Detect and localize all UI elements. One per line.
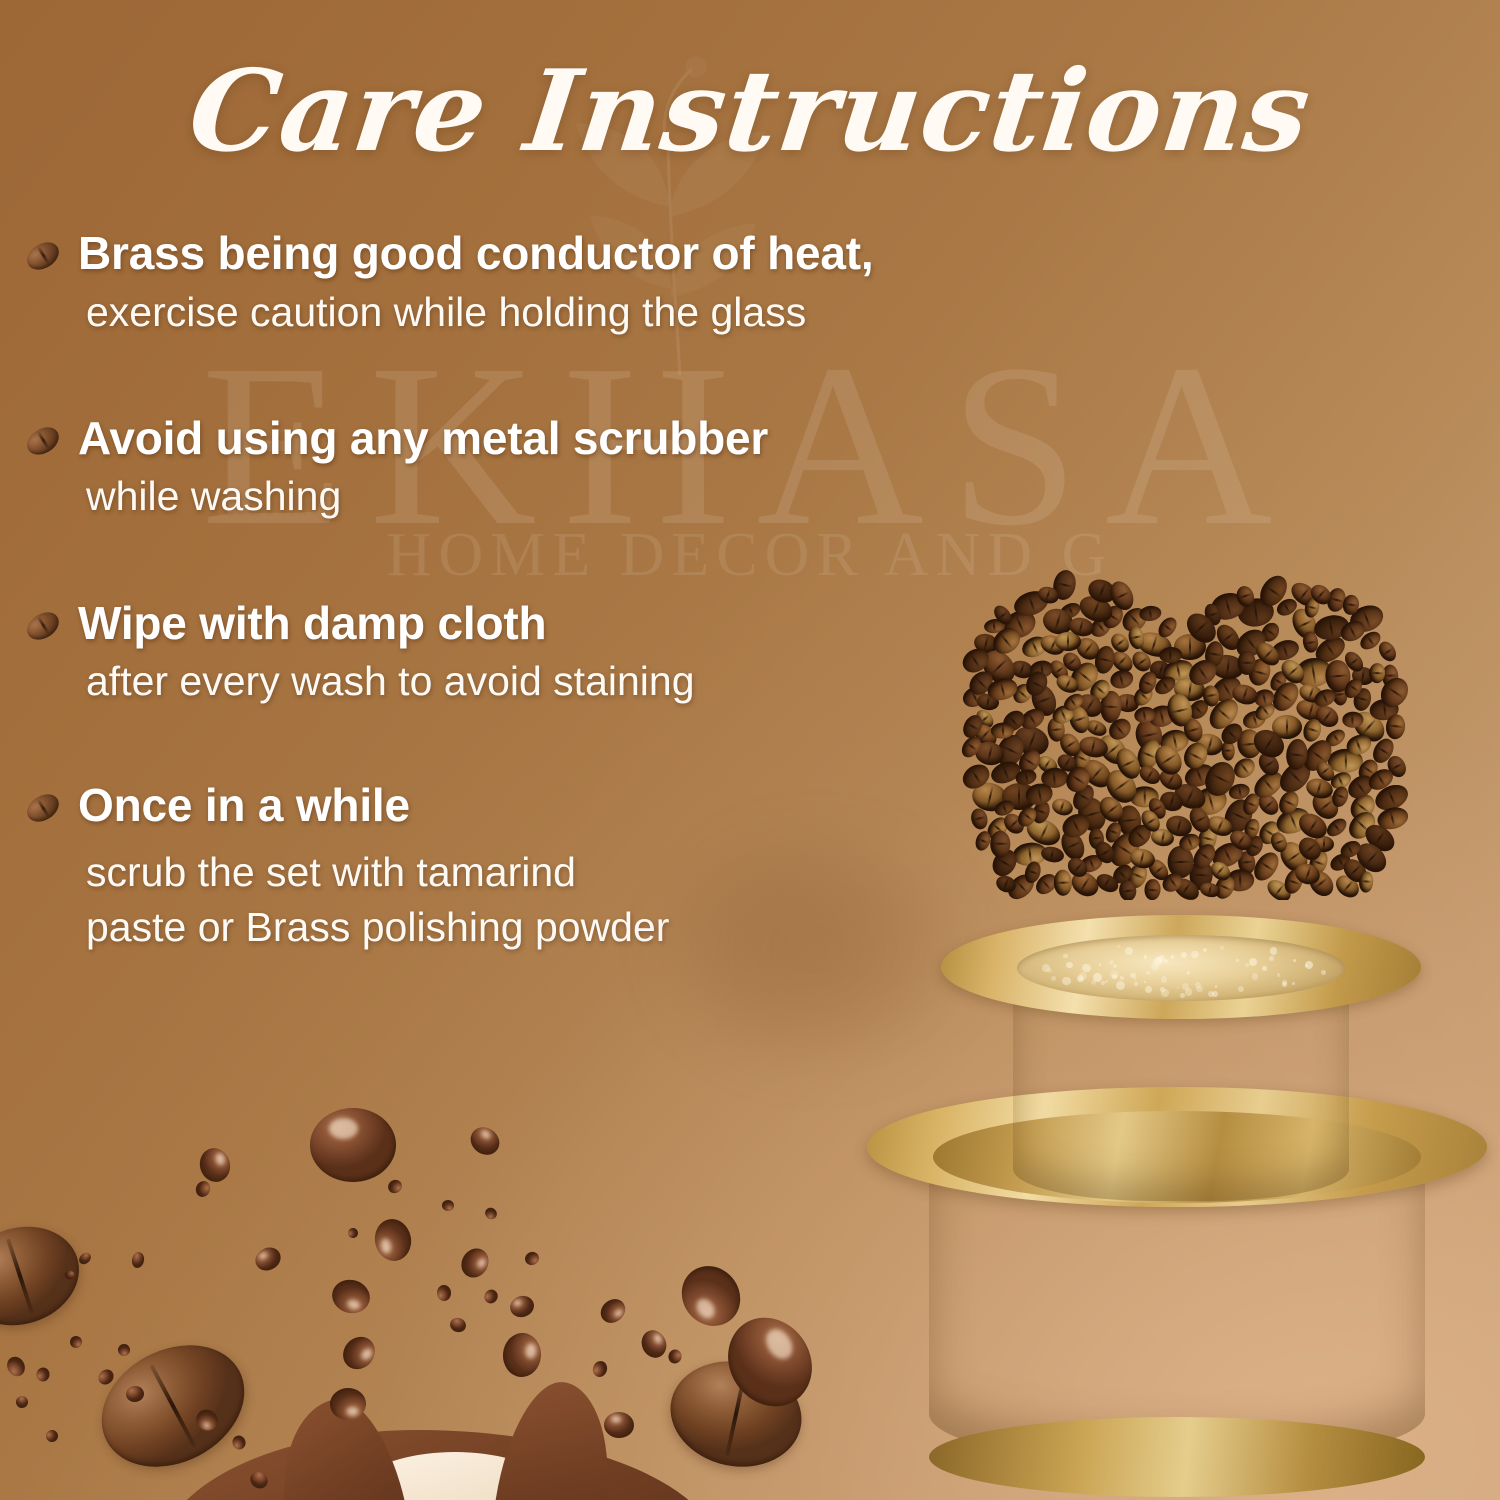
- coffee-droplet: [35, 1367, 50, 1383]
- brass-tumbler-davara-icon: [845, 905, 1500, 1500]
- care-instructions-poster: EKHASA HOME DECOR AND G Care Instruction…: [0, 0, 1500, 1500]
- coffee-bean-icon: [26, 244, 60, 268]
- instruction-detail: exercise caution while holding the glass: [78, 286, 1020, 339]
- list-item: Wipe with damp cloth after every wash to…: [0, 598, 1020, 709]
- instruction-heading: Brass being good conductor of heat,: [78, 228, 1020, 280]
- coffee-droplet: [591, 1359, 609, 1379]
- list-item: Brass being good conductor of heat, exer…: [0, 228, 1020, 339]
- brass-tumbler: [941, 915, 1421, 1215]
- coffee-droplet: [386, 1177, 405, 1195]
- instruction-detail: after every wash to avoid staining: [78, 655, 1020, 708]
- coffee-droplet: [442, 1199, 455, 1211]
- instruction-detail: while washing: [78, 470, 1020, 523]
- coffee-droplet: [44, 1428, 61, 1445]
- coffee-droplet: [337, 1330, 382, 1375]
- coffee-bean-icon: [26, 429, 60, 453]
- coffee-droplet: [637, 1326, 670, 1361]
- coffee-droplet: [670, 1254, 752, 1337]
- coffee-droplet: [196, 1145, 234, 1186]
- coffee-droplet: [69, 1335, 83, 1349]
- coffee-bean-icon: [26, 796, 60, 820]
- coffee-droplet: [371, 1216, 414, 1264]
- instruction-heading: Avoid using any metal scrubber: [78, 413, 1020, 465]
- coffee-droplet: [251, 1243, 284, 1274]
- list-item: Avoid using any metal scrubber while was…: [0, 413, 1020, 524]
- coffee-droplet: [77, 1250, 93, 1266]
- coffee-droplet: [328, 1276, 373, 1318]
- coffee-droplet: [194, 1179, 213, 1199]
- coffee-droplet: [116, 1342, 132, 1358]
- coffee-droplet: [483, 1205, 499, 1221]
- coffee-droplet: [448, 1316, 468, 1335]
- coffee-droplet: [346, 1226, 359, 1239]
- coffee-droplet: [603, 1411, 634, 1439]
- coffee-droplet: [502, 1332, 543, 1379]
- coffee-bean-icon: [26, 614, 60, 638]
- coffee-droplet: [465, 1122, 505, 1161]
- coffee-splash-icon: [0, 1100, 910, 1500]
- coffee-droplet: [667, 1348, 683, 1365]
- coffee-droplet: [231, 1434, 248, 1451]
- page-title: Care Instructions: [0, 56, 1500, 168]
- coffee-droplet: [14, 1394, 30, 1410]
- coffee-droplet: [482, 1287, 501, 1306]
- coffee-droplet: [131, 1251, 146, 1269]
- coffee-droplet: [437, 1285, 451, 1301]
- coffee-bean-icon: [0, 1212, 92, 1340]
- coffee-droplet: [4, 1354, 28, 1380]
- coffee-droplet: [310, 1108, 396, 1182]
- instruction-heading: Wipe with damp cloth: [78, 598, 1020, 650]
- coffee-droplet: [456, 1243, 494, 1282]
- coffee-droplet: [507, 1293, 536, 1320]
- coffee-droplet: [523, 1250, 541, 1267]
- coffee-droplet: [596, 1294, 630, 1327]
